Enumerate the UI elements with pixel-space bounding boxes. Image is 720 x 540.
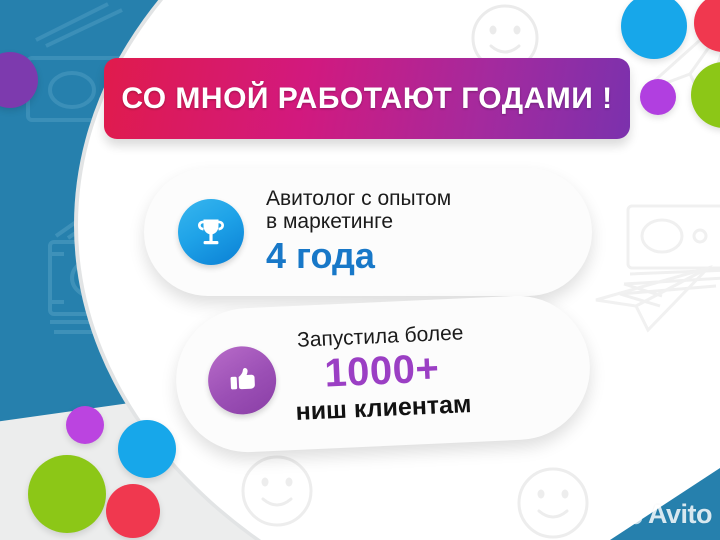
niches-line-3: ниш клиентам xyxy=(295,391,472,426)
headline-banner-text: СО МНОЙ РАБОТАЮТ ГОДАМИ ! xyxy=(121,82,612,116)
dot-red-bottom xyxy=(106,484,160,538)
avito-watermark: Avito xyxy=(615,497,712,532)
stat-card-niches[interactable]: Запустила более 1000+ ниш клиентам xyxy=(173,293,593,456)
dot-blue-bottom xyxy=(118,420,176,478)
headline-banner: СО МНОЙ РАБОТАЮТ ГОДАМИ ! xyxy=(104,58,630,139)
dot-purple-bottom xyxy=(66,406,104,444)
experience-line-1: Авитолог с опытом xyxy=(266,188,451,211)
experience-highlight: 4 года xyxy=(266,237,451,276)
trophy-icon xyxy=(178,199,244,265)
stat-card-experience[interactable]: Авитолог с опытом в маркетинге 4 года xyxy=(144,168,592,296)
dot-purple-small xyxy=(640,79,676,115)
promo-banner-canvas: СО МНОЙ РАБОТАЮТ ГОДАМИ ! Авитолог с опы… xyxy=(0,0,720,540)
thumbs-up-icon xyxy=(207,345,278,416)
dot-green-bottom xyxy=(28,455,106,533)
stat-card-experience-body: Авитолог с опытом в маркетинге 4 года xyxy=(266,188,451,275)
avito-logo-icon xyxy=(615,497,645,532)
niches-highlight: 1000+ xyxy=(293,346,471,397)
experience-line-2: в маркетинге xyxy=(266,211,451,234)
stat-card-niches-body: Запустила более 1000+ ниш клиентам xyxy=(292,322,472,426)
avito-watermark-label: Avito xyxy=(648,499,712,530)
